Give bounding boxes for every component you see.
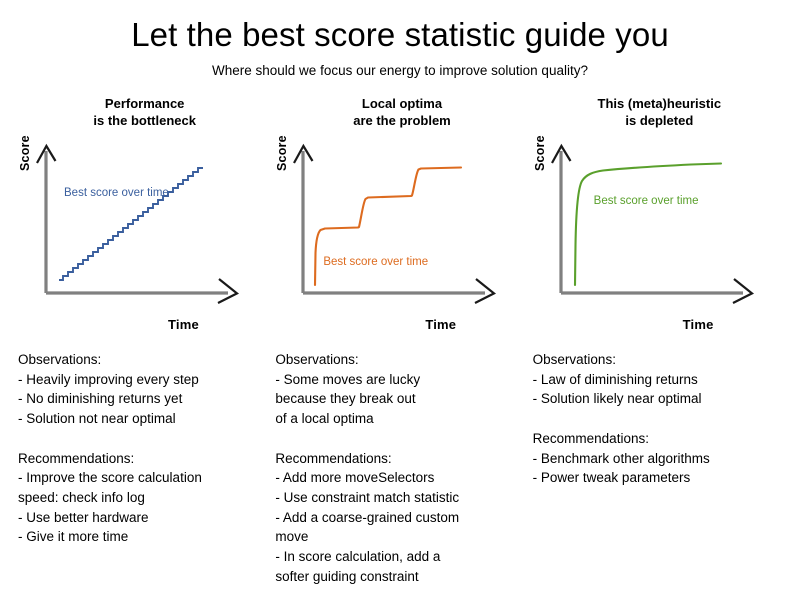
advice-column-2: Observations: - Some moves are lucky bec… <box>275 350 532 586</box>
x-axis-arrow-icon <box>218 279 237 303</box>
x-axis-arrow-icon <box>475 279 494 303</box>
chart-title-3-line1: This (meta)heuristic <box>537 95 782 112</box>
chart-legend-3: Best score over time <box>594 195 699 207</box>
chart-legend-2: Best score over time <box>323 256 428 268</box>
chart-legend-1: Best score over time <box>64 187 169 199</box>
recommendations-list-1: - Improve the score calculation speed: c… <box>18 468 261 547</box>
recommendations-heading-1: Recommendations: <box>18 449 261 469</box>
advice-column-1: Observations: - Heavily improving every … <box>18 350 275 586</box>
observations-list-1: - Heavily improving every step - No dimi… <box>18 370 261 429</box>
y-axis-label-3: Score <box>533 135 547 171</box>
recommendations-list-3: - Benchmark other algorithms - Power twe… <box>533 449 776 488</box>
chart-title-2: Local optima are the problem <box>273 95 530 131</box>
observations-list-2: - Some moves are lucky because they brea… <box>275 370 518 429</box>
page-subtitle: Where should we focus our energy to impr… <box>0 64 800 79</box>
chart-title-2-line1: Local optima <box>279 95 524 112</box>
chart-panels-row: Performance is the bottleneck Score Best… <box>0 95 800 308</box>
x-axis-label-2: Time <box>425 317 456 332</box>
recommendations-heading-2: Recommendations: <box>275 449 518 469</box>
column-spacer <box>18 429 261 449</box>
chart-title-3: This (meta)heuristic is depleted <box>531 95 788 131</box>
chart-title-1-line2: is the bottleneck <box>22 112 267 129</box>
chart-title-1: Performance is the bottleneck <box>16 95 273 131</box>
observations-heading-3: Observations: <box>533 350 776 370</box>
chart-area-1: Score Best score over time Time <box>16 133 273 308</box>
observations-list-3: - Law of diminishing returns - Solution … <box>533 370 776 409</box>
column-spacer <box>275 429 518 449</box>
chart-svg-1 <box>16 133 261 308</box>
observations-heading-2: Observations: <box>275 350 518 370</box>
advice-columns-row: Observations: - Heavily improving every … <box>0 350 800 586</box>
chart-svg-2 <box>273 133 518 308</box>
advice-column-3: Observations: - Law of diminishing retur… <box>533 350 790 586</box>
chart-title-2-line2: are the problem <box>279 112 524 129</box>
column-spacer <box>533 409 776 429</box>
x-axis-label-3: Time <box>683 317 714 332</box>
recommendations-heading-3: Recommendations: <box>533 429 776 449</box>
series-line-3 <box>575 164 721 286</box>
page-title: Let the best score statistic guide you <box>0 17 800 53</box>
y-axis-label-2: Score <box>275 135 289 171</box>
chart-panel-local-optima: Local optima are the problem Score Best … <box>273 95 530 308</box>
chart-panel-heuristic-depleted: This (meta)heuristic is depleted Score B… <box>531 95 788 308</box>
recommendations-list-2: - Add more moveSelectors - Use constrain… <box>275 468 518 586</box>
chart-title-1-line1: Performance <box>22 95 267 112</box>
page-header: Let the best score statistic guide you W… <box>0 0 800 79</box>
chart-svg-3 <box>531 133 776 308</box>
chart-panel-performance-bottleneck: Performance is the bottleneck Score Best… <box>16 95 273 308</box>
series-line-1 <box>59 168 203 280</box>
chart-area-3: Score Best score over time Time <box>531 133 788 308</box>
chart-title-3-line2: is depleted <box>537 112 782 129</box>
y-axis-label-1: Score <box>18 135 32 171</box>
observations-heading-1: Observations: <box>18 350 261 370</box>
chart-area-2: Score Best score over time Time <box>273 133 530 308</box>
x-axis-label-1: Time <box>168 317 199 332</box>
x-axis-arrow-icon <box>733 279 752 303</box>
